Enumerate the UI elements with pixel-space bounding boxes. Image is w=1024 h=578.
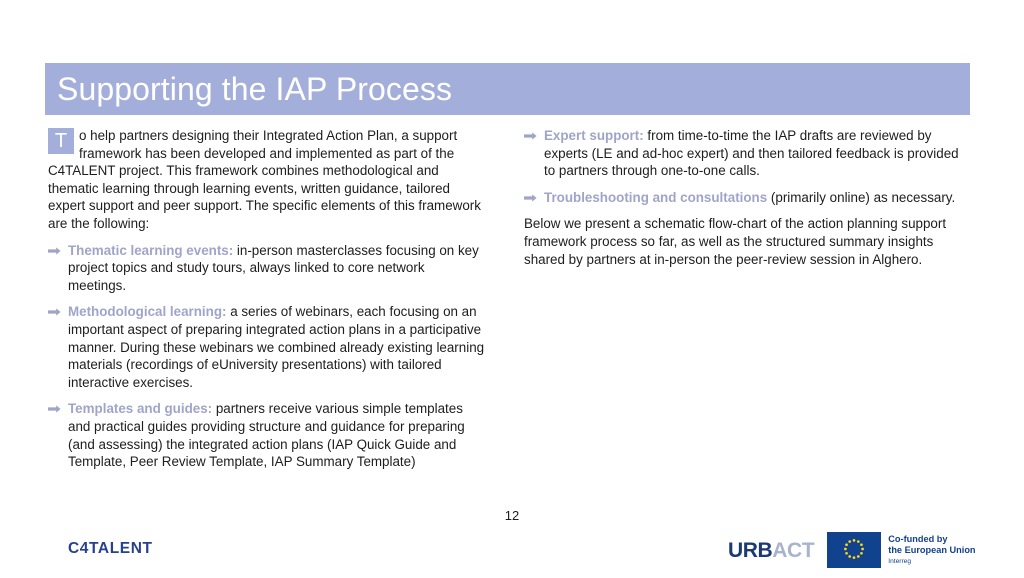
list-item: Troubleshooting and consultations (prima…	[524, 189, 970, 207]
arrow-right-icon	[524, 194, 537, 202]
urbact-logo-part1: URB	[728, 539, 772, 562]
eu-badge-line1: Co-funded by	[888, 534, 975, 545]
arrow-right-icon	[524, 132, 537, 140]
urbact-logo: URBACT	[728, 540, 814, 561]
list-item-body: (primarily online) as necessary.	[767, 190, 955, 205]
list-item: Templates and guides: partners receive v…	[48, 400, 485, 470]
eu-badge-line2: the European Union	[888, 545, 975, 556]
c4talent-logo: C4TALENT	[68, 540, 153, 558]
arrow-right-icon	[48, 405, 61, 413]
right-bullet-list: Expert support: from time-to-time the IA…	[524, 127, 970, 206]
eu-cofunding-badge: Co-funded by the European Union Interreg	[827, 532, 975, 568]
page-number: 12	[0, 508, 1024, 523]
list-item-lead: Thematic learning events:	[68, 243, 233, 258]
intro-paragraph-text: o help partners designing their Integrat…	[48, 128, 481, 231]
left-column: To help partners designing their Integra…	[48, 127, 485, 471]
arrow-right-icon	[48, 247, 61, 255]
urbact-logo-part2: ACT	[772, 539, 814, 562]
intro-paragraph: To help partners designing their Integra…	[48, 127, 485, 233]
list-item-lead: Expert support:	[544, 128, 644, 143]
eu-flag-icon	[827, 532, 881, 568]
list-item: Thematic learning events: in-person mast…	[48, 242, 485, 295]
eu-badge-line3: Interreg	[888, 558, 975, 566]
closing-paragraph: Below we present a schematic flow-chart …	[524, 215, 970, 268]
list-item: Expert support: from time-to-time the IA…	[524, 127, 970, 180]
footer-logos: URBACT	[728, 532, 976, 568]
left-bullet-list: Thematic learning events: in-person mast…	[48, 242, 485, 471]
page-title: Supporting the IAP Process	[45, 73, 452, 105]
right-column: Expert support: from time-to-time the IA…	[524, 127, 970, 268]
eu-badge-text: Co-funded by the European Union Interreg	[888, 534, 975, 565]
list-item-lead: Methodological learning:	[68, 304, 226, 319]
arrow-right-icon	[48, 308, 61, 316]
list-item: Methodological learning: a series of web…	[48, 303, 485, 391]
list-item-lead: Troubleshooting and consultations	[544, 190, 767, 205]
dropcap-letter: T	[48, 128, 74, 154]
slide-title-bar: Supporting the IAP Process	[45, 63, 970, 115]
list-item-lead: Templates and guides:	[68, 401, 212, 416]
